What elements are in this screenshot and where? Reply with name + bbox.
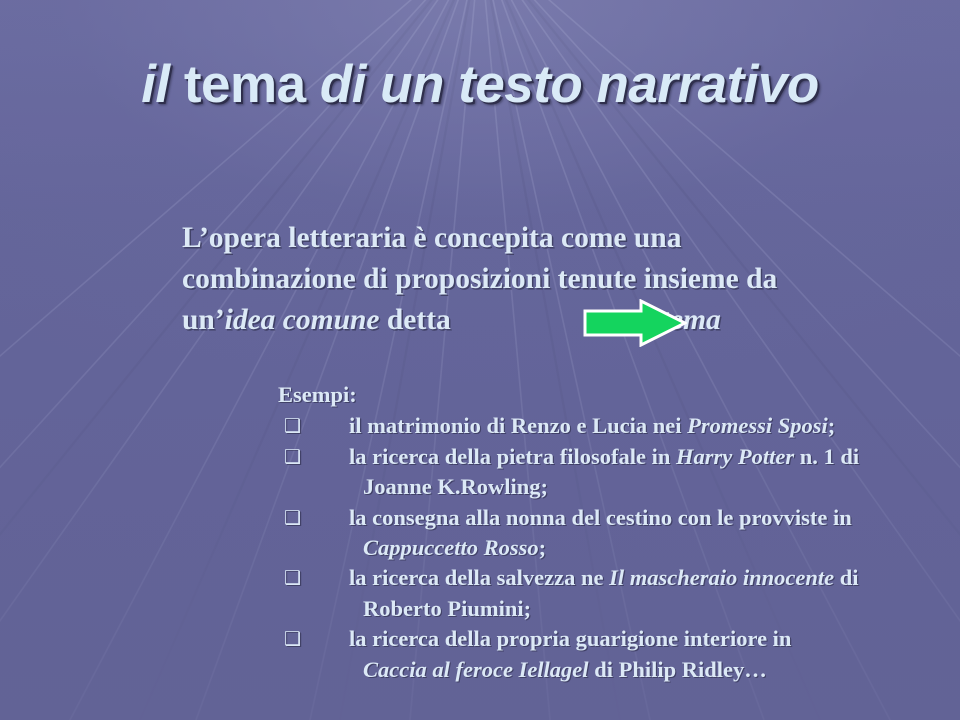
list-item-text: il matrimonio di Renzo e Lucia nei Prome… bbox=[349, 411, 960, 441]
text-run: la ricerca della salvezza ne bbox=[349, 565, 609, 590]
paragraph-line-2: combinazione di proposizioni tenute insi… bbox=[182, 259, 952, 300]
work-title-italic: Harry Potter bbox=[676, 444, 794, 469]
paragraph-line-3: un’idea comune dettatema bbox=[182, 300, 952, 341]
square-bullet-icon: ❑ bbox=[284, 442, 302, 472]
list-item-line: Cappuccetto Rosso; bbox=[349, 533, 960, 563]
text-run: la ricerca della propria guarigione inte… bbox=[349, 626, 791, 651]
work-title-italic: Caccia al feroce Iellagel bbox=[363, 657, 589, 682]
list-item: ❑il matrimonio di Renzo e Lucia nei Prom… bbox=[278, 411, 960, 441]
text-run: Joanne K.Rowling; bbox=[363, 474, 548, 499]
text-run: ; bbox=[539, 535, 547, 560]
list-item-line: Joanne K.Rowling; bbox=[349, 472, 960, 502]
list-item-line: la ricerca della salvezza ne Il maschera… bbox=[349, 563, 960, 593]
main-paragraph: L’opera letteraria è concepita come una … bbox=[182, 218, 952, 341]
list-item-text: la consegna alla nonna del cestino con l… bbox=[349, 503, 960, 564]
paragraph-line3-suffix: detta bbox=[380, 304, 451, 336]
text-run: ; bbox=[828, 413, 836, 438]
examples-heading: Esempi: bbox=[278, 380, 960, 410]
list-item: ❑la ricerca della salvezza ne Il mascher… bbox=[278, 563, 960, 624]
text-run: la ricerca della pietra filosofale in bbox=[349, 444, 676, 469]
examples-block: Esempi: ❑il matrimonio di Renzo e Lucia … bbox=[278, 380, 960, 685]
text-run: Roberto Piumini; bbox=[363, 596, 531, 621]
list-item-text: la ricerca della pietra filosofale in Ha… bbox=[349, 442, 960, 503]
presentation-slide: il tema di un testo narrativo L’opera le… bbox=[0, 0, 960, 720]
title-word-il: il bbox=[141, 55, 184, 114]
list-item-text: la ricerca della propria guarigione inte… bbox=[349, 624, 960, 685]
list-item: ❑la ricerca della propria guarigione int… bbox=[278, 624, 960, 685]
square-bullet-icon: ❑ bbox=[284, 411, 302, 441]
work-title-italic: Promessi Sposi bbox=[687, 413, 828, 438]
green-right-arrow-icon bbox=[583, 299, 687, 347]
title-word-tema: tema bbox=[184, 55, 320, 114]
list-item-line: Roberto Piumini; bbox=[349, 594, 960, 624]
slide-title: il tema di un testo narrativo bbox=[0, 54, 960, 115]
list-item-line: la consegna alla nonna del cestino con l… bbox=[349, 503, 960, 533]
list-item-line: la ricerca della propria guarigione inte… bbox=[349, 624, 960, 654]
text-run: la consegna alla nonna del cestino con l… bbox=[349, 505, 852, 530]
text-run: di Philip Ridley… bbox=[589, 657, 767, 682]
list-item: ❑la ricerca della pietra filosofale in H… bbox=[278, 442, 960, 503]
square-bullet-icon: ❑ bbox=[284, 563, 302, 593]
paragraph-line-1: L’opera letteraria è concepita come una bbox=[182, 218, 952, 259]
text-run: di bbox=[834, 565, 858, 590]
square-bullet-icon: ❑ bbox=[284, 624, 302, 654]
list-item: ❑la consegna alla nonna del cestino con … bbox=[278, 503, 960, 564]
text-run: il matrimonio di Renzo e Lucia nei bbox=[349, 413, 687, 438]
list-item-line: la ricerca della pietra filosofale in Ha… bbox=[349, 442, 960, 472]
text-run: n. 1 di bbox=[794, 444, 859, 469]
work-title-italic: Cappuccetto Rosso bbox=[363, 535, 539, 560]
list-item-line: Caccia al feroce Iellagel di Philip Ridl… bbox=[349, 655, 960, 685]
list-item-text: la ricerca della salvezza ne Il maschera… bbox=[349, 563, 960, 624]
square-bullet-icon: ❑ bbox=[284, 503, 302, 533]
list-item-line: il matrimonio di Renzo e Lucia nei Prome… bbox=[349, 411, 960, 441]
paragraph-line3-prefix: un’ bbox=[182, 304, 225, 336]
examples-list: ❑il matrimonio di Renzo e Lucia nei Prom… bbox=[278, 411, 960, 685]
title-rest: di un testo narrativo bbox=[320, 55, 819, 114]
paragraph-emphasis-idea-comune: idea comune bbox=[225, 304, 380, 336]
work-title-italic: Il mascheraio innocente bbox=[609, 565, 834, 590]
